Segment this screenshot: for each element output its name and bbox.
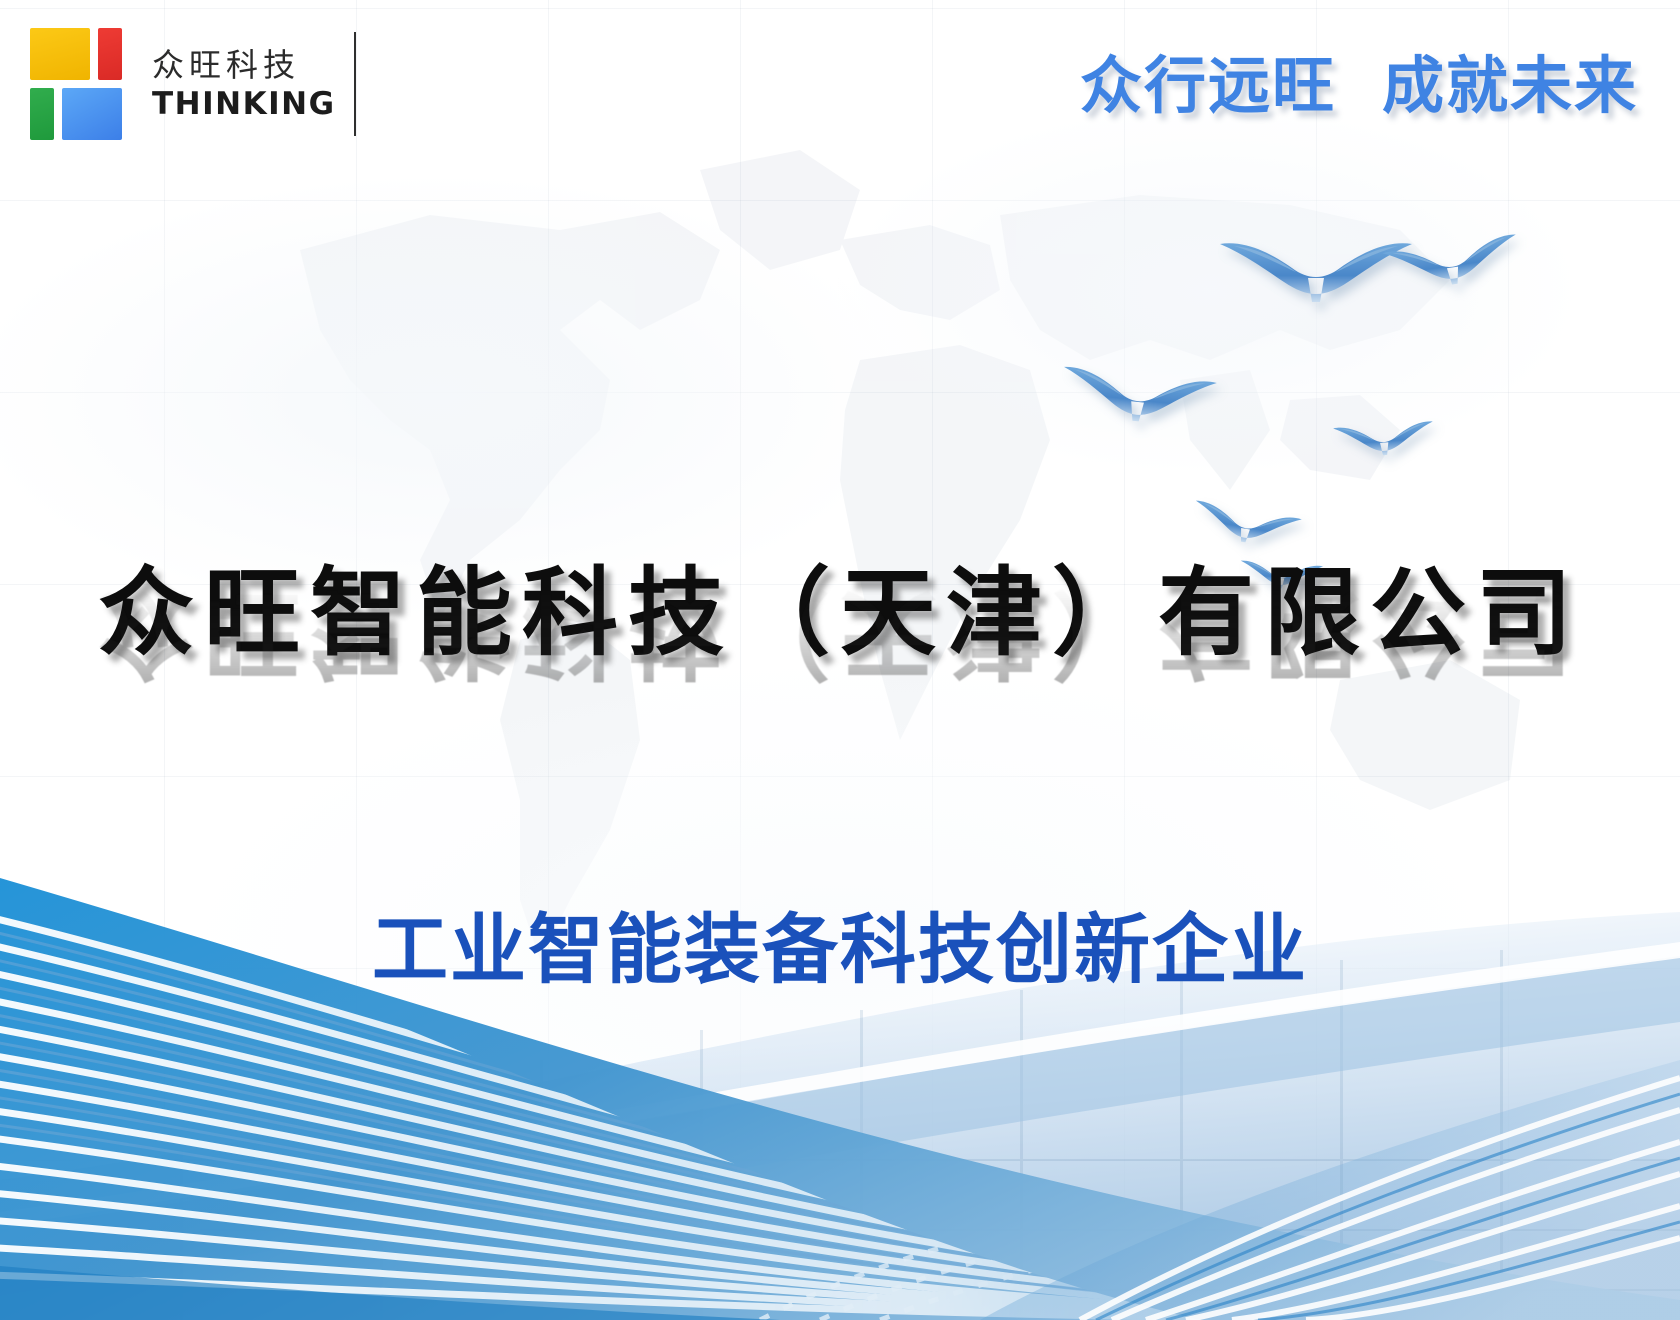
four-square-logo-icon bbox=[30, 28, 130, 140]
logo-company-name-en: THINKING bbox=[152, 89, 336, 120]
logo-company-name-cn: 众旺科技 bbox=[152, 49, 336, 81]
logo-blue-square bbox=[62, 88, 122, 140]
page-title: 众旺智能科技（天津）有限公司 bbox=[0, 560, 1680, 668]
logo-yellow-square bbox=[30, 28, 90, 80]
seagull-5 bbox=[1190, 500, 1302, 551]
bottom-soft-band bbox=[0, 956, 1680, 1296]
slogan-part-1: 众行远旺 bbox=[1080, 52, 1336, 121]
title-slide: 众旺科技 THINKING 众行远旺成就未来 众旺智能科技（天津）有限公司 众旺… bbox=[0, 0, 1680, 1320]
seagull-2 bbox=[1383, 234, 1522, 293]
right-ribbon-lines bbox=[1080, 1078, 1680, 1320]
slogan-part-2: 成就未来 bbox=[1382, 52, 1638, 121]
right-ribbon-accent-lines bbox=[1096, 1094, 1680, 1320]
page-subtitle: 工业智能装备科技创新企业 bbox=[0, 912, 1680, 988]
right-ribbon bbox=[980, 1060, 1680, 1320]
logo-wordmark: 众旺科技 THINKING bbox=[152, 32, 356, 136]
seagull-1 bbox=[1220, 243, 1412, 302]
bottom-left-sliver bbox=[0, 1266, 780, 1320]
seagull-3 bbox=[1059, 366, 1217, 429]
center-text-block: 众旺智能科技（天津）有限公司 众旺智能科技（天津）有限公司 工业智能装备科技创新… bbox=[0, 560, 1680, 668]
seagull-4 bbox=[1333, 421, 1435, 458]
header-slogan: 众行远旺成就未来 bbox=[1080, 56, 1638, 118]
logo-red-bar bbox=[98, 28, 122, 80]
logo-green-bar bbox=[30, 88, 54, 140]
bottom-grid-bars bbox=[150, 950, 1680, 1320]
bottom-wave-decoration bbox=[0, 760, 1680, 1320]
company-logo[interactable]: 众旺科技 THINKING bbox=[30, 28, 356, 140]
slide-header: 众旺科技 THINKING 众行远旺成就未来 bbox=[0, 0, 1680, 196]
